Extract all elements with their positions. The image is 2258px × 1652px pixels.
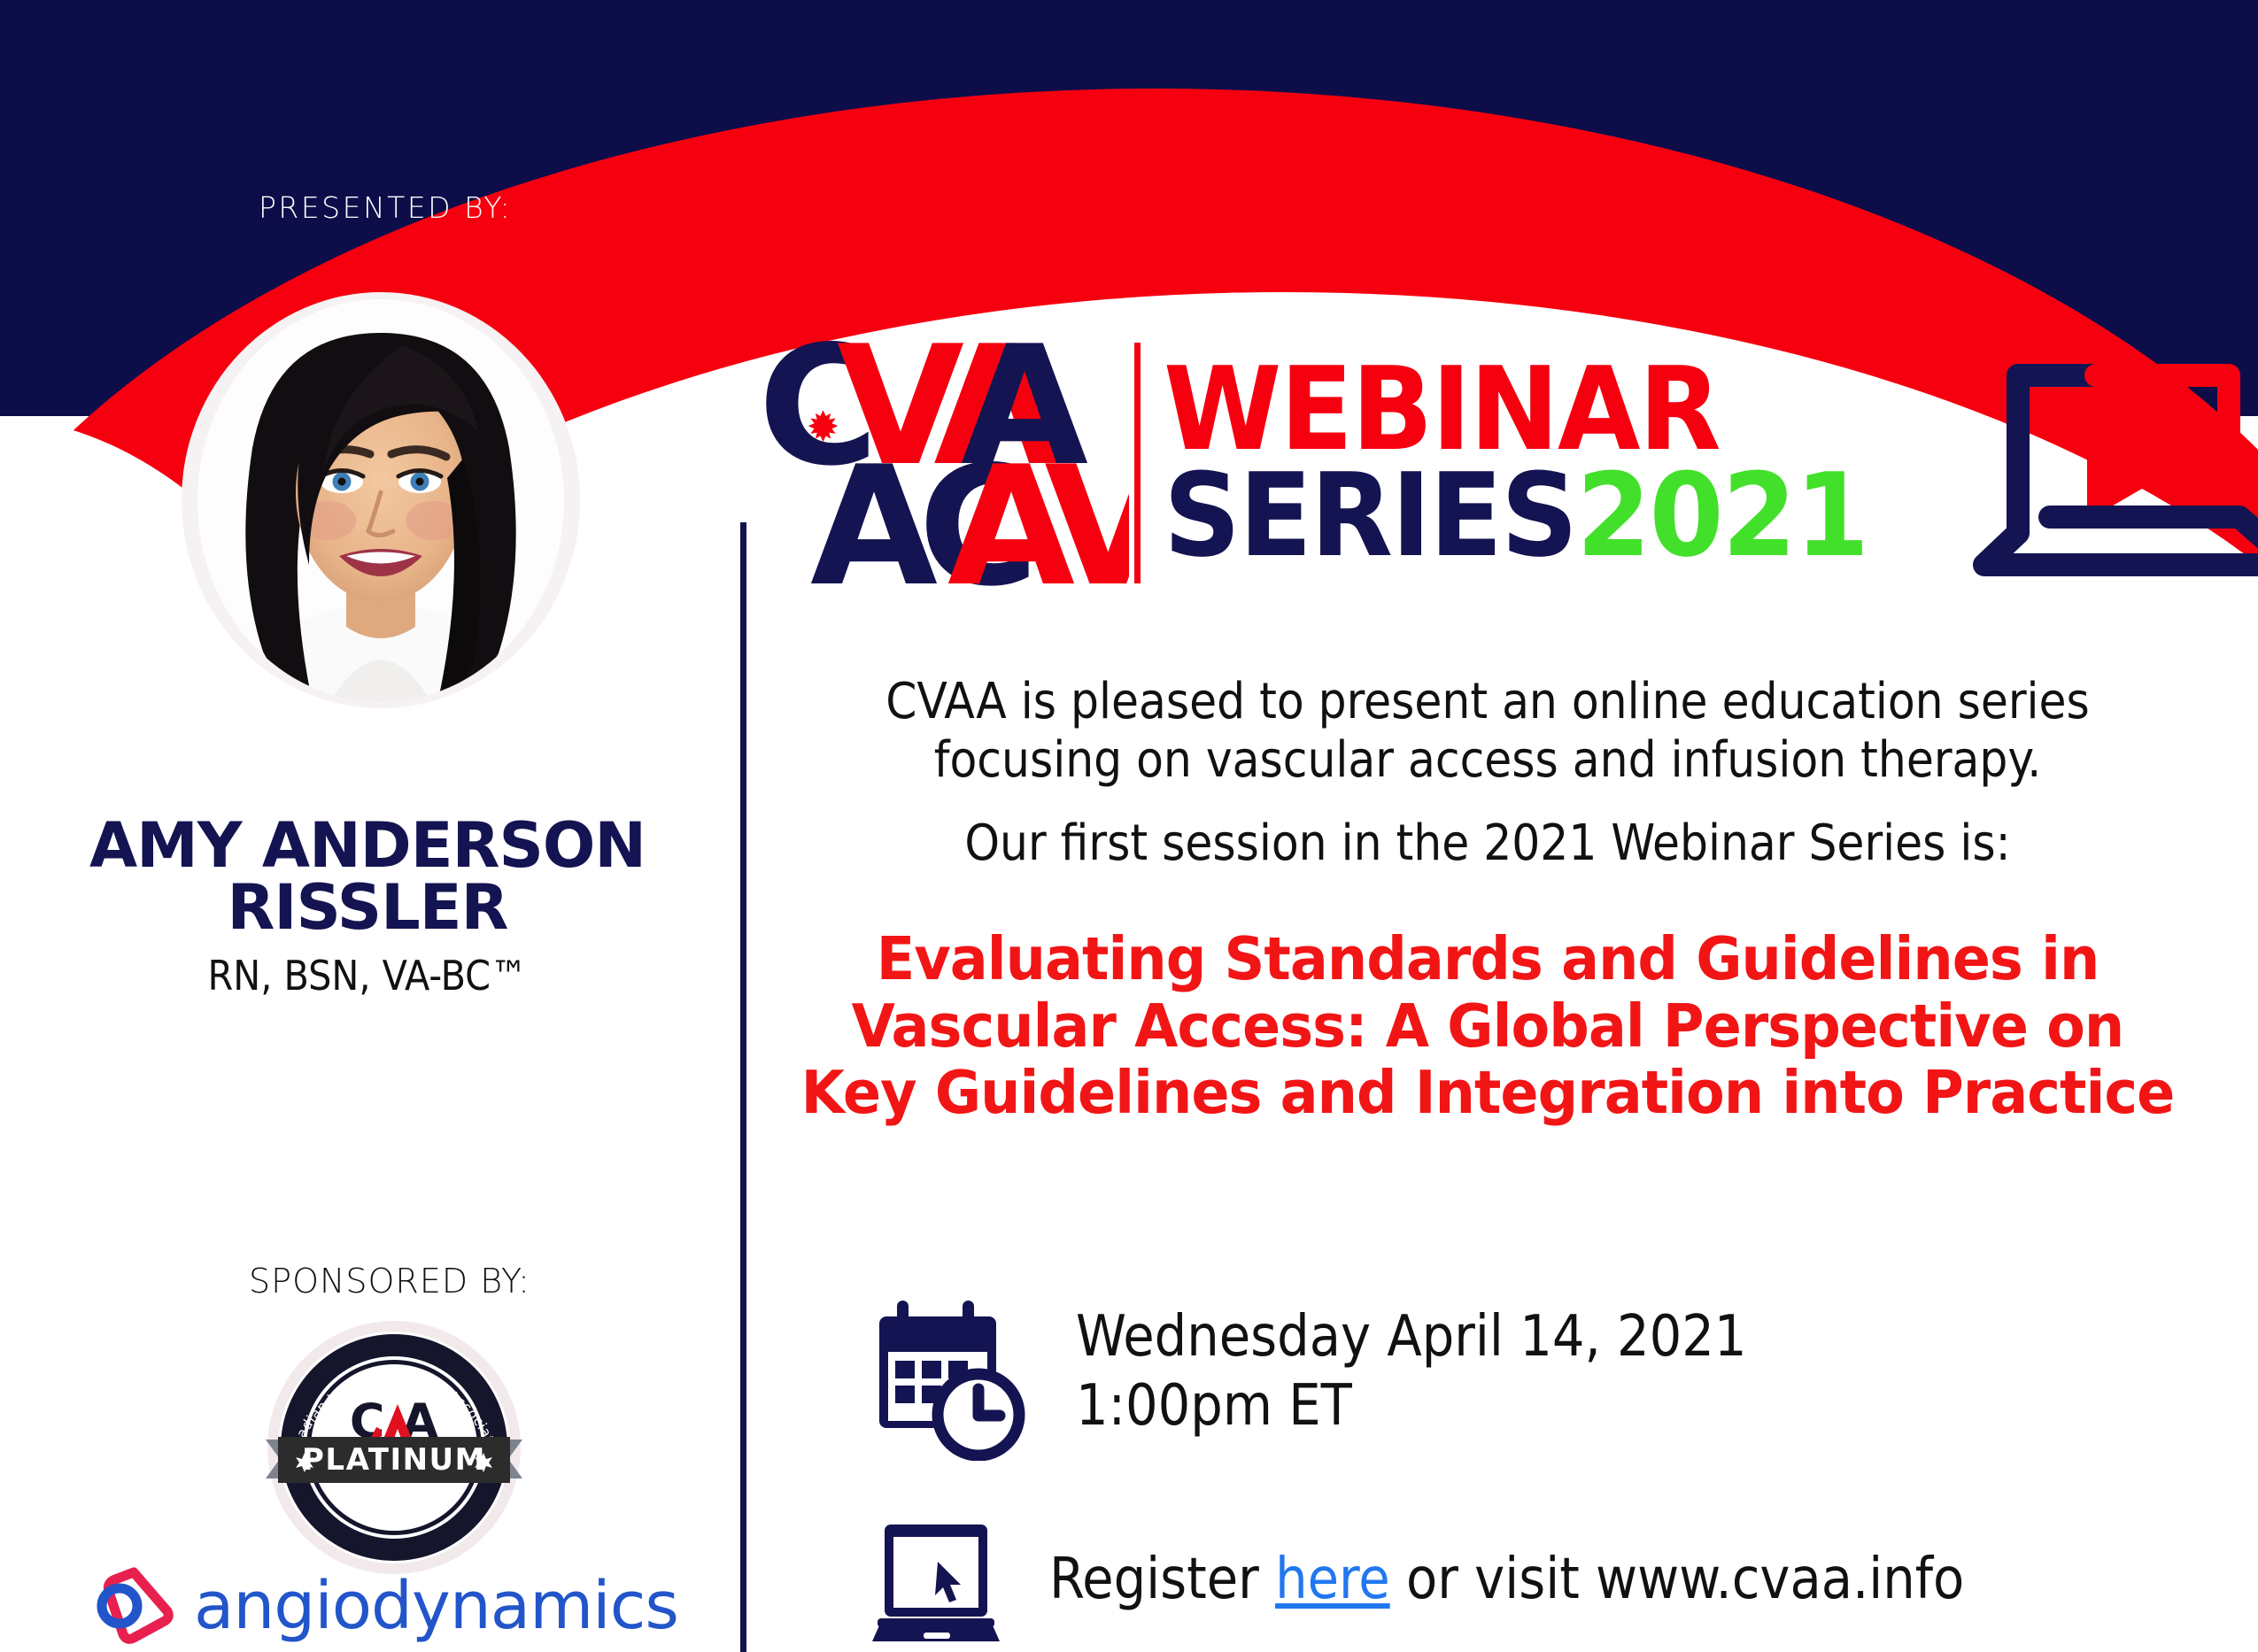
event-time: 1:00pm ET [1076,1373,1352,1439]
register-suffix: or visit www.cvaa.info [1390,1547,1965,1612]
badge-banner-text: PLATINUM [302,1442,486,1478]
calendar-clock-icon [872,1297,1032,1461]
series-word: SERIES [1164,448,1576,583]
speaker-name: AMY ANDERSON RISSLER [0,814,735,938]
laptop-cursor-icon [872,1521,1003,1645]
register-here-link[interactable]: here [1275,1547,1390,1612]
speaker-credentials: RN, BSN, VA-BC™ [0,952,735,1000]
year-label: 2021 [1576,448,1867,583]
webinar-title: Evaluating Standards and Guidelines in V… [798,926,2177,1127]
header-divider-bar [1134,343,1141,583]
date-time-row: Wednesday April 14, 2021 1:00pm ET [872,1297,1747,1461]
sponsored-by-label: SPONSORED BY: [0,1262,779,1301]
presented-by-label: PRESENTED BY: [259,190,512,225]
webinar-series-wordmark: WEBINAR SERIES2021 [1164,357,1921,568]
webinar-series-header: C VA A AC AV WEBINAR SERIES2021 [762,326,2231,600]
intro-line-3: Our first session in the 2021 Webinar Se… [779,814,2196,873]
intro-line-2: focusing on vascular access and infusion… [934,731,2041,789]
series-year-line: SERIES2021 [1164,463,1867,569]
angiodynamics-mark-icon [93,1565,174,1647]
date-time-text: Wednesday April 14, 2021 1:00pm ET [1076,1297,1747,1440]
speaker-portrait [182,292,580,708]
speaker-name-line2: RISSLER [0,876,735,938]
intro-paragraph: CVAA is pleased to present an online edu… [779,673,2196,873]
laptop-play-icon [1963,344,2258,583]
webinar-flyer: PRESENTED BY: [0,0,2258,1652]
portrait-image [197,299,564,702]
cvaa-acav-logo: C VA A AC AV [762,330,1129,596]
column-divider [740,522,746,1652]
registration-row: Register here or visit www.cvaa.info [872,1521,1964,1645]
registration-text: Register here or visit www.cvaa.info [1049,1547,1964,1619]
event-date: Wednesday April 14, 2021 [1076,1304,1747,1370]
angiodynamics-wordmark: angiodynamics [194,1573,678,1639]
register-prefix: Register [1049,1547,1275,1612]
angiodynamics-logo: angiodynamics [93,1565,678,1647]
intro-line-1: CVAA is pleased to present an online edu… [885,673,2090,730]
svg-text:AV: AV [947,430,1129,596]
cvaa-platinum-badge: Canadian Vascular Access Association COR… [266,1319,522,1576]
